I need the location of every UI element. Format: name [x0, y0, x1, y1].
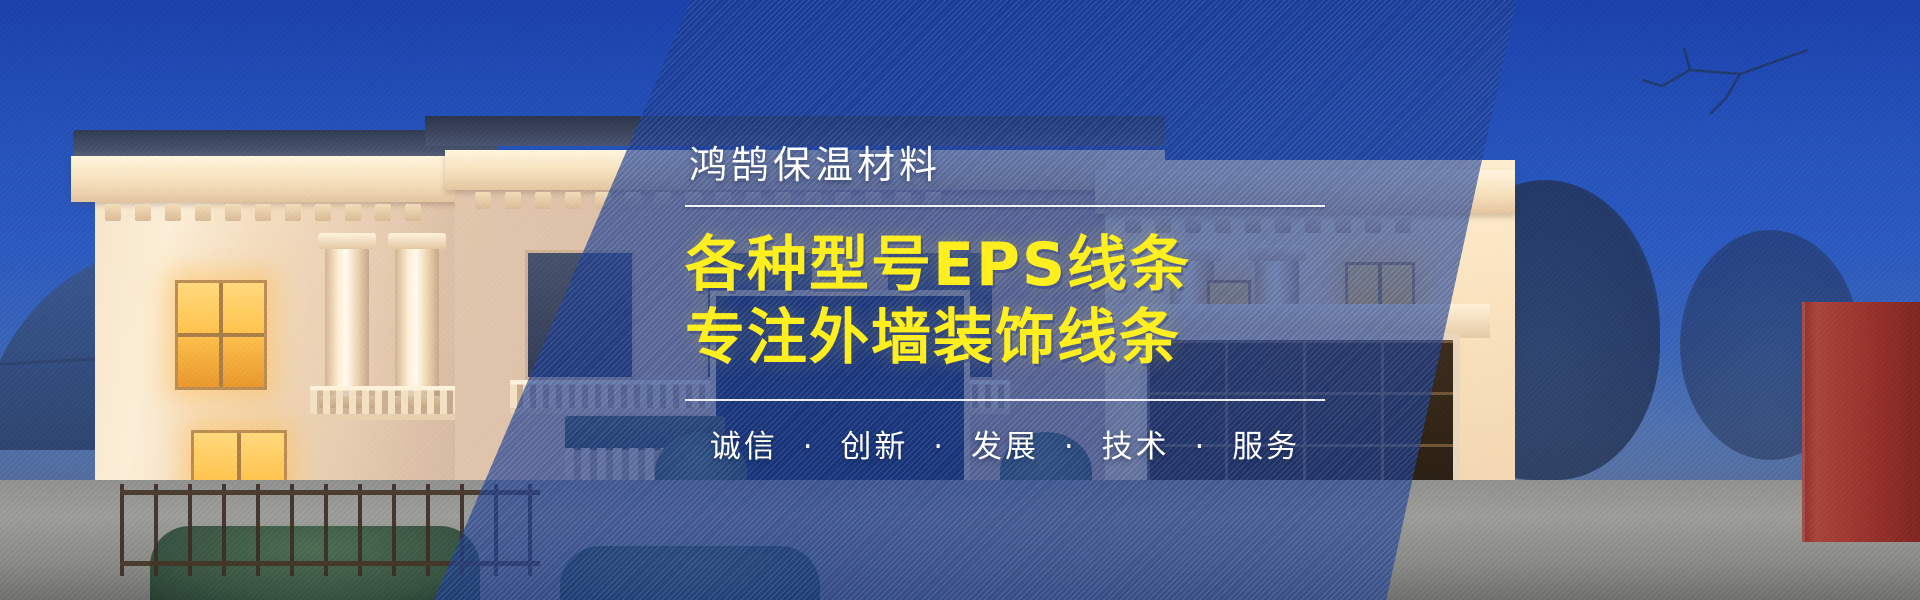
promo-banner: 鸿鹄保温材料 各种型号EPS线条 专注外墙装饰线条 诚信 · 创新 · 发展 ·…	[0, 0, 1920, 600]
divider-bottom	[685, 399, 1325, 401]
banner-content: 鸿鹄保温材料 各种型号EPS线条 专注外墙装饰线条 诚信 · 创新 · 发展 ·…	[0, 0, 1920, 600]
tagline-separator: ·	[795, 429, 824, 465]
headline-line-2: 专注外墙装饰线条	[685, 302, 1325, 375]
tagline-separator: ·	[1056, 429, 1085, 465]
headline-line-1: 各种型号EPS线条	[685, 229, 1325, 302]
tagline-item-0: 诚信	[710, 429, 778, 465]
tagline-item-3: 技术	[1102, 429, 1170, 465]
tagline-separator: ·	[925, 429, 954, 465]
divider-top	[685, 205, 1325, 207]
brand-name: 鸿鹄保温材料	[685, 134, 1325, 189]
tagline-item-4: 服务	[1232, 429, 1300, 465]
tagline-item-2: 发展	[971, 429, 1039, 465]
tagline-separator: ·	[1186, 429, 1215, 465]
tagline-item-1: 创新	[840, 429, 908, 465]
tagline: 诚信 · 创新 · 发展 · 技术 · 服务	[685, 421, 1325, 466]
